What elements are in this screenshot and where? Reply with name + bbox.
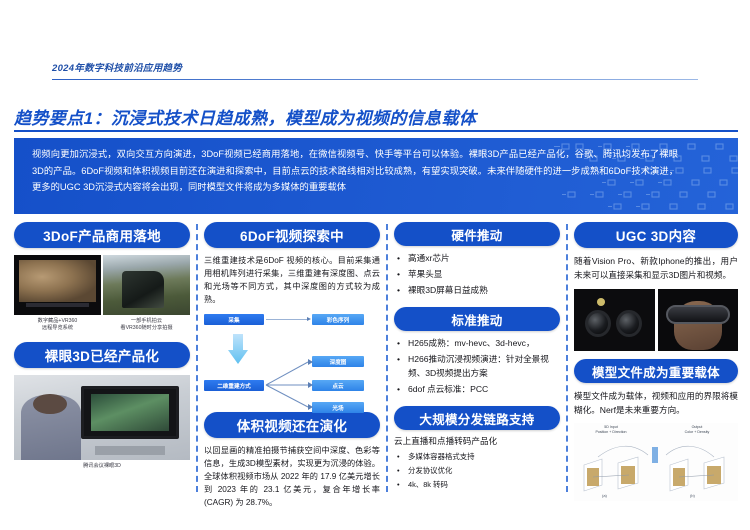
eyebrow-divider xyxy=(52,79,698,80)
nerf-input-label: 5D Input Position + Direction xyxy=(580,425,642,435)
section-heading-3dof: 3DoF产品商用落地 xyxy=(14,222,190,248)
flow-diagram-3d-reconstruction: 采集 彩色序列 二维重建方式 深度图 点云 光场 xyxy=(204,312,380,408)
list-item: 裸眼3D屏幕日益成熟 xyxy=(394,283,560,297)
bullet-list-standards: H265成熟：mv-hevc、3d-hevc， H266推动沉浸视频演进：针对全… xyxy=(394,336,560,396)
photo-vision-pro-headset xyxy=(658,289,739,351)
column-divider-3 xyxy=(566,224,568,492)
photo-tv-screen xyxy=(81,386,180,439)
section-heading-standards: 标准推动 xyxy=(394,307,560,331)
photo-row-3dof xyxy=(14,255,190,315)
list-item: H266推动沉浸视频演进：针对全景视频、3D视频提出方案 xyxy=(394,352,560,380)
section-heading-volumetric-video: 体积视频还在演化 xyxy=(204,412,380,438)
slide-header: 2024年数字科技前沿应用趋势 xyxy=(0,0,750,95)
svg-text:(a): (a) xyxy=(602,493,608,498)
body-distribution: 云上直播和点播转码产品化 xyxy=(394,435,560,448)
photo-viewer-head xyxy=(33,394,66,414)
photo-caption-drone: 一部手机拍云 看VR360随时分享拍摄 xyxy=(103,318,190,332)
list-item: 高通xr芯片 xyxy=(394,251,560,265)
svg-text:(b): (b) xyxy=(690,493,696,498)
photo-flash xyxy=(597,298,606,307)
list-item: 4k、8k 转码 xyxy=(394,479,560,491)
title-divider xyxy=(14,130,738,132)
nerf-diagram: 5D Input Position + Direction Output Col… xyxy=(574,423,738,501)
section-heading-6dof: 6DoF视频探索中 xyxy=(204,222,380,248)
photo-lens-left xyxy=(585,310,611,337)
list-item: 多媒体容器格式支持 xyxy=(394,451,560,463)
section-heading-hardware: 硬件推动 xyxy=(394,222,560,246)
column-drivers: 硬件推动 高通xr芯片 苹果头显 裸眼3D屏幕日益成熟 标准推动 H265成熟：… xyxy=(394,222,560,522)
photo-lens-right xyxy=(616,310,642,337)
list-item: 分发协议优化 xyxy=(394,465,560,477)
photo-caption-tencent-3d: 腾讯会议裸眼3D xyxy=(14,463,190,470)
section-heading-distribution: 大规模分发链路支持 xyxy=(394,406,560,430)
body-model-carrier: 模型文件成为载体，视频和应用的界限将模糊化。Nerf是未来重要方向。 xyxy=(574,389,738,417)
bullet-list-hardware: 高通xr芯片 苹果头显 裸眼3D屏幕日益成熟 xyxy=(394,251,560,297)
summary-text: 视频向更加沉浸式，双向交互方向演进，3DoF视频已经商用落地，在微信视频号、快手… xyxy=(32,146,678,196)
body-6dof: 三维重建技术是6DoF 视频的核心。目前采集通用相机阵列进行采集，三维重建有深度… xyxy=(204,254,380,306)
section-heading-naked-eye-3d: 裸眼3D已经产品化 xyxy=(14,342,190,368)
body-ugc-3d: 随着Vision Pro、新款Iphone的推出，用户未来可以直接采集和显示3D… xyxy=(574,254,738,282)
list-item: 6dof 点云标准：PCC xyxy=(394,382,560,396)
summary-banner: 视频向更加沉浸式，双向交互方向演进，3DoF视频已经商用落地，在微信视频号、快手… xyxy=(14,138,738,214)
column-divider-2 xyxy=(386,224,388,492)
flow-branch-arrows xyxy=(204,312,380,413)
photo-caption-vr360: 数字藏品+VR360 远程导览系统 xyxy=(14,318,101,332)
bullet-list-distribution: 多媒体容器格式支持 分发协议优化 4k、8k 转码 xyxy=(394,451,560,491)
nerf-diagram-graphic: (a) (b) xyxy=(574,437,738,499)
column-divider-1 xyxy=(196,224,198,492)
column-ugc: UGC 3D内容 随着Vision Pro、新款Iphone的推出，用户未来可以… xyxy=(574,222,738,522)
photo-row-ugc xyxy=(574,289,738,351)
body-volumetric-video: 以回显画的精准拍摄节捕获空间中深度、色彩等信息，生成3D模型素材，实现更为沉浸的… xyxy=(204,444,380,509)
column-6dof: 6DoF视频探索中 三维重建技术是6DoF 视频的核心。目前采集通用相机阵列进行… xyxy=(204,222,380,522)
photo-headset-visor xyxy=(666,305,730,324)
photo-drone-capture xyxy=(103,255,190,315)
section-heading-model-carrier: 模型文件成为重要载体 xyxy=(574,359,738,383)
column-3dof: 3DoF产品商用落地 数字藏品+VR360 远程导览系统 一部手机拍云 看VR3… xyxy=(14,222,190,522)
photo-iphone-camera xyxy=(574,289,655,351)
photo-vr360-exhibit xyxy=(14,255,101,315)
page-title: 趋势要点1：沉浸式技术日趋成熟，模型成为视频的信息载体 xyxy=(14,104,476,129)
nerf-output-label: Output Color + Density xyxy=(666,425,728,435)
photo-tencent-meeting-3d xyxy=(14,375,190,460)
content-columns: 3DoF产品商用落地 数字藏品+VR360 远程导览系统 一部手机拍云 看VR3… xyxy=(0,222,750,522)
photo-tv-stand xyxy=(95,446,165,455)
eyebrow-label: 2024年数字科技前沿应用趋势 xyxy=(52,60,182,74)
list-item: H265成熟：mv-hevc、3d-hevc， xyxy=(394,336,560,350)
list-item: 苹果头显 xyxy=(394,267,560,281)
section-heading-ugc-3d: UGC 3D内容 xyxy=(574,222,738,248)
